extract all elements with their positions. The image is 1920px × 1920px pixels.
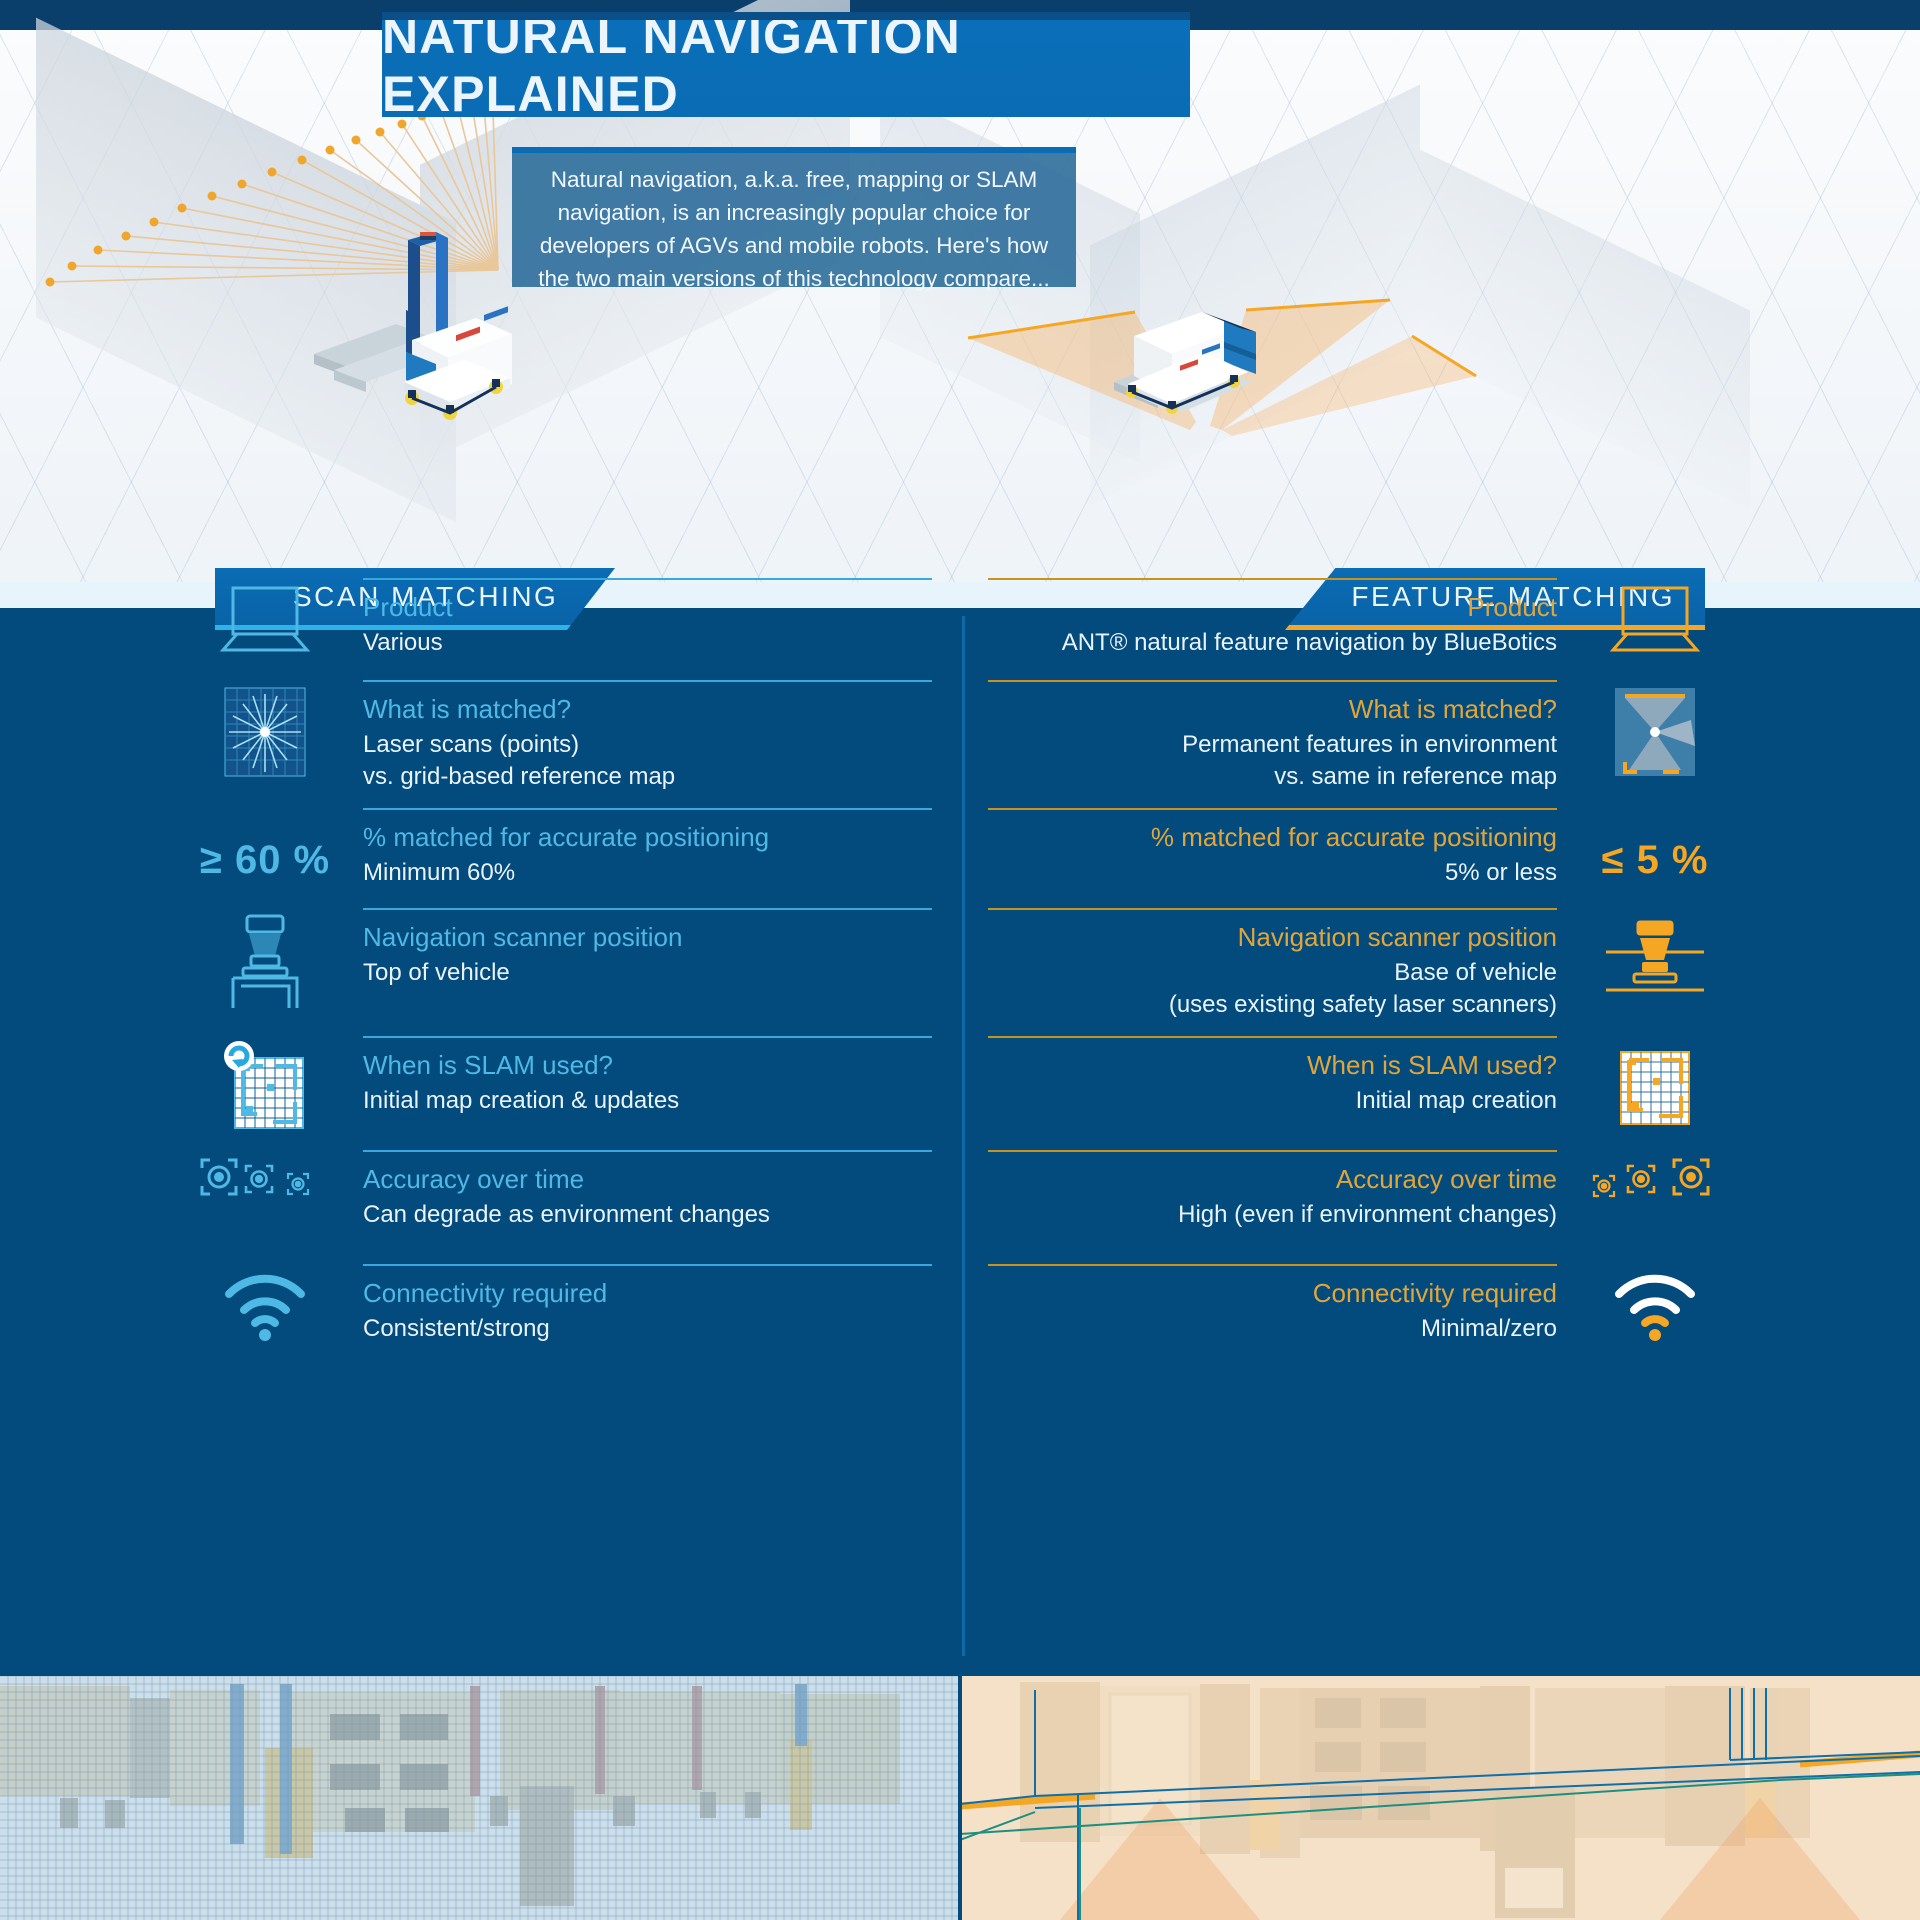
percent-60-badge: ≥ 60 % [195,808,335,889]
row-value: 5% or less [988,857,1557,889]
row-value: Top of vehicle [363,957,932,989]
table-row: ≥ 60 % % matched for accurate positionin… [0,808,1920,889]
row-right-text: Product ANT® natural feature navigation … [960,578,1585,659]
page-title-banner: NATURAL NAVIGATION EXPLAINED [382,12,1190,117]
row-right-cell: Accuracy over time High (even if environ… [960,1150,1920,1231]
row-right-text: % matched for accurate positioning 5% or… [960,808,1585,889]
photo-strip-topcap [0,1668,1920,1676]
row-right-cell: What is matched? Permanent features in e… [960,680,1920,793]
row-value: High (even if environment changes) [988,1199,1557,1231]
bottom-photo-strip [0,1668,1920,1920]
comparison-table: SCAN MATCHING FEATURE MATCHING Prod [0,608,1920,1668]
table-row: Accuracy over time Can degrade as enviro… [0,1150,1920,1231]
row-label: Connectivity required [988,1276,1557,1310]
table-row: What is matched? Laser scans (points) vs… [0,680,1920,793]
title-banner-cap [382,12,1190,20]
row-rule [988,1264,1557,1266]
row-label: Product [363,590,932,624]
row-rule [363,808,932,810]
row-left-text: Product Various [335,578,960,659]
row-label: % matched for accurate positioning [988,820,1557,854]
agv-robot-feature-matching [1108,312,1298,432]
row-rule [363,1036,932,1038]
scanner-top-icon [195,908,335,1021]
row-value: Permanent features in environment vs. sa… [988,729,1557,793]
row-rule [363,908,932,910]
row-value: Laser scans (points) vs. grid-based refe… [363,729,932,793]
infographic-page: NATURAL NAVIGATION EXPLAINED Natural nav… [0,0,1920,1920]
row-value: ANT® natural feature navigation by BlueB… [988,627,1557,659]
row-label: When is SLAM used? [988,1048,1557,1082]
row-rule [988,908,1557,910]
row-value: Initial map creation & updates [363,1085,932,1117]
scanner-base-icon [1585,908,1725,1021]
row-rule [363,578,932,580]
row-value: Consistent/strong [363,1313,932,1345]
row-label: Navigation scanner position [363,920,932,954]
wifi-icon [1585,1264,1725,1345]
row-left-cell: Navigation scanner position Top of vehic… [0,908,960,1021]
table-row: When is SLAM used? Initial map creation … [0,1036,1920,1136]
percent-60-text: ≥ 60 % [200,812,330,883]
row-right-cell: Product ANT® natural feature navigation … [960,578,1920,659]
photo-scan-matching-warehouse [0,1668,960,1920]
row-value: Minimal/zero [988,1313,1557,1345]
row-right-cell: ≤ 5 % % matched for accurate positioning… [960,808,1920,889]
laptop-icon [195,578,335,659]
map-icon [1585,1036,1725,1136]
photo-feature-matching-warehouse [960,1668,1920,1920]
row-label: What is matched? [363,692,932,726]
row-label: Navigation scanner position [988,920,1557,954]
hero-illustration: NATURAL NAVIGATION EXPLAINED Natural nav… [0,0,1920,608]
row-label: What is matched? [988,692,1557,726]
table-row: Product Various Product ANT® natu [0,578,1920,659]
row-left-cell: ≥ 60 % % matched for accurate positionin… [0,808,960,889]
row-left-text: Navigation scanner position Top of vehic… [335,908,960,1021]
row-left-cell: Connectivity required Consistent/strong [0,1264,960,1345]
wifi-icon [195,1264,335,1345]
row-right-text: When is SLAM used? Initial map creation [960,1036,1585,1136]
scan-burst-icon [195,680,335,793]
row-right-text: Navigation scanner position Base of vehi… [960,908,1585,1021]
row-label: When is SLAM used? [363,1048,932,1082]
photo-strip-divider [958,1668,962,1920]
row-rule [988,1150,1557,1152]
table-row: Navigation scanner position Top of vehic… [0,908,1920,1021]
row-left-text: Connectivity required Consistent/strong [335,1264,960,1345]
row-left-cell: When is SLAM used? Initial map creation … [0,1036,960,1136]
row-left-text: When is SLAM used? Initial map creation … [335,1036,960,1136]
row-value: Initial map creation [988,1085,1557,1117]
laptop-icon [1585,578,1725,659]
percent-5-badge: ≤ 5 % [1585,808,1725,889]
row-label: Product [988,590,1557,624]
row-right-cell: Navigation scanner position Base of vehi… [960,908,1920,1021]
targets-decreasing-icon [195,1150,335,1231]
row-right-text: Accuracy over time High (even if environ… [960,1150,1585,1231]
row-right-cell: Connectivity required Minimal/zero [960,1264,1920,1345]
row-rule [988,1036,1557,1038]
targets-increasing-icon [1585,1150,1725,1231]
row-rule [363,1150,932,1152]
map-refresh-icon [195,1036,335,1136]
row-left-cell: Accuracy over time Can degrade as enviro… [0,1150,960,1231]
row-rule [988,808,1557,810]
row-rule [988,680,1557,682]
row-left-cell: Product Various [0,578,960,659]
row-value: Base of vehicle (uses existing safety la… [988,957,1557,1021]
row-label: % matched for accurate positioning [363,820,932,854]
row-left-text: What is matched? Laser scans (points) vs… [335,680,960,793]
agv-robot-scan-matching [300,232,520,427]
row-value: Can degrade as environment changes [363,1199,932,1231]
intro-callout: Natural navigation, a.k.a. free, mapping… [512,147,1076,287]
row-right-text: Connectivity required Minimal/zero [960,1264,1585,1345]
row-label: Connectivity required [363,1276,932,1310]
row-rule [363,680,932,682]
page-title: NATURAL NAVIGATION EXPLAINED [382,7,1190,123]
feature-beam-icon [1585,680,1725,793]
row-left-text: Accuracy over time Can degrade as enviro… [335,1150,960,1231]
row-value: Various [363,627,932,659]
row-left-cell: What is matched? Laser scans (points) vs… [0,680,960,793]
intro-text: Natural navigation, a.k.a. free, mapping… [538,163,1050,295]
row-rule [363,1264,932,1266]
row-label: Accuracy over time [363,1162,932,1196]
table-row: Connectivity required Consistent/strong [0,1264,1920,1345]
row-rule [988,578,1557,580]
row-left-text: % matched for accurate positioning Minim… [335,808,960,889]
row-right-text: What is matched? Permanent features in e… [960,680,1585,793]
intro-callout-cap [512,147,1076,153]
percent-5-text: ≤ 5 % [1602,812,1709,883]
row-label: Accuracy over time [988,1162,1557,1196]
row-value: Minimum 60% [363,857,932,889]
row-right-cell: When is SLAM used? Initial map creation [960,1036,1920,1136]
